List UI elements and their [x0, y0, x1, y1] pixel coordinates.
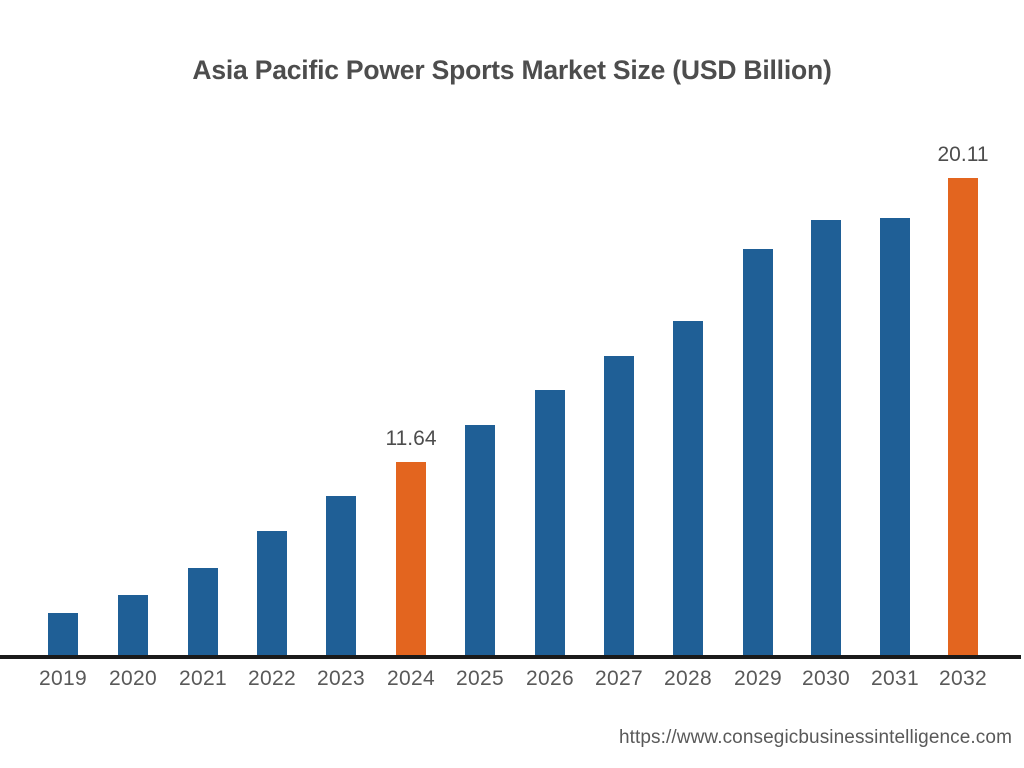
x-axis-tick-2022: 2022 [239, 667, 305, 691]
bar-2026[interactable] [535, 390, 565, 657]
bar-2030[interactable] [811, 220, 841, 657]
bar-group [811, 220, 841, 657]
x-axis-tick-2026: 2026 [517, 667, 583, 691]
bar-group [118, 595, 148, 657]
bar-group [48, 613, 78, 657]
x-axis-tick-2032: 2032 [930, 667, 996, 691]
bar-2022[interactable] [257, 531, 287, 657]
bar-group [743, 249, 773, 657]
bar-2029[interactable] [743, 249, 773, 657]
x-axis-line [0, 655, 1021, 659]
bar-group: 20.11 [948, 178, 978, 657]
bar-2031[interactable] [880, 218, 910, 657]
source-url-text: https://www.consegicbusinessintelligence… [619, 727, 1012, 749]
bar-2025[interactable] [465, 425, 495, 657]
plot-area: 11.6420.11 [0, 0, 1024, 768]
x-axis-tick-2025: 2025 [447, 667, 513, 691]
bar-group [465, 425, 495, 657]
bar-group [673, 321, 703, 657]
bar-2019[interactable] [48, 613, 78, 657]
x-axis-tick-2023: 2023 [308, 667, 374, 691]
bar-value-label-2032: 20.11 [938, 143, 989, 167]
x-axis-tick-2029: 2029 [725, 667, 791, 691]
x-axis-tick-2021: 2021 [170, 667, 236, 691]
bar-group [188, 568, 218, 657]
bar-2023[interactable] [326, 496, 356, 657]
x-axis-tick-2028: 2028 [655, 667, 721, 691]
bar-2032[interactable] [948, 178, 978, 657]
bar-2024[interactable] [396, 462, 426, 657]
x-axis-tick-2031: 2031 [862, 667, 928, 691]
bar-2028[interactable] [673, 321, 703, 657]
bar-group: 11.64 [396, 462, 426, 657]
bar-group [880, 218, 910, 657]
x-axis-tick-2019: 2019 [30, 667, 96, 691]
x-axis-tick-2024: 2024 [378, 667, 444, 691]
chart-container: Asia Pacific Power Sports Market Size (U… [0, 0, 1024, 768]
bar-2021[interactable] [188, 568, 218, 657]
bar-value-label-2024: 11.64 [386, 427, 437, 451]
bar-group [257, 531, 287, 657]
bar-group [535, 390, 565, 657]
bar-2027[interactable] [604, 356, 634, 657]
x-axis-tick-2020: 2020 [100, 667, 166, 691]
bar-group [604, 356, 634, 657]
x-axis-tick-2027: 2027 [586, 667, 652, 691]
bar-group [326, 496, 356, 657]
x-axis-tick-2030: 2030 [793, 667, 859, 691]
bar-2020[interactable] [118, 595, 148, 657]
